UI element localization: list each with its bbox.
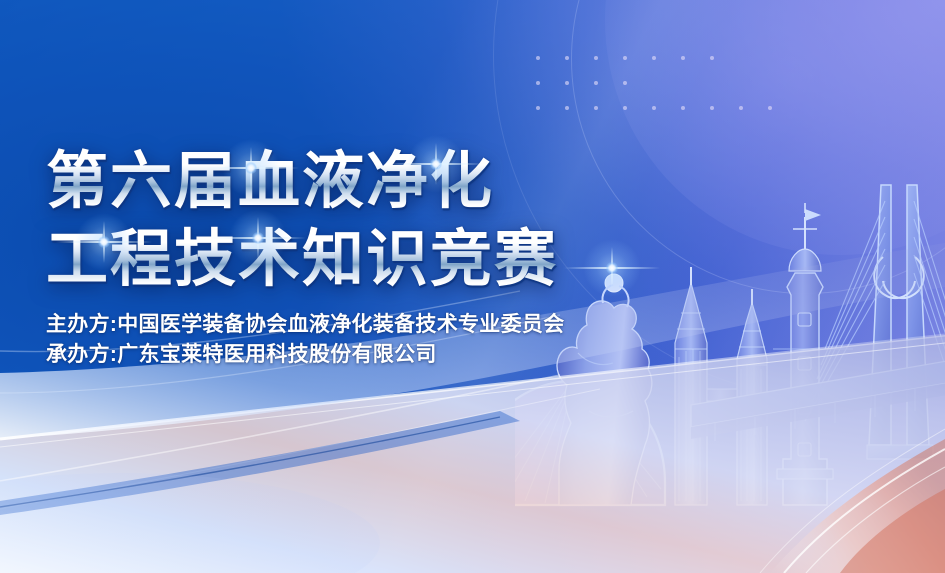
grid-dot [681, 106, 685, 110]
grid-dot [681, 56, 685, 60]
grid-dot [536, 56, 540, 60]
grid-dot [565, 56, 569, 60]
grid-dot [623, 81, 627, 85]
grid-dot [710, 56, 714, 60]
grid-dot [565, 106, 569, 110]
grid-dot [536, 81, 540, 85]
grid-dot [623, 56, 627, 60]
grid-dot [594, 81, 598, 85]
organizer-line: 承办方:广东宝莱特医用科技股份有限公司 [46, 340, 686, 370]
grid-dot [652, 56, 656, 60]
banner-poster: 第六届血液净化 工程技术知识竞赛 主办方:中国医学装备协会血液净化装备技术专业委… [0, 0, 945, 573]
dot-grid-pattern [536, 56, 784, 124]
organizer-block: 主办方:中国医学装备协会血液净化装备技术专业委员会 承办方:广东宝莱特医用科技股… [46, 310, 686, 370]
title-line-2: 工程技术知识竞赛 [46, 224, 686, 296]
grid-dot [768, 106, 772, 110]
grid-dot [565, 81, 569, 85]
grid-dot [710, 106, 714, 110]
grid-dot [739, 106, 743, 110]
grid-dot [594, 106, 598, 110]
host-line: 主办方:中国医学装备协会血液净化装备技术专业委员会 [46, 310, 686, 340]
grid-dot [594, 56, 598, 60]
grid-dot [623, 106, 627, 110]
grid-dot [652, 106, 656, 110]
banner-copy: 第六届血液净化 工程技术知识竞赛 主办方:中国医学装备协会血液净化装备技术专业委… [46, 146, 686, 370]
title-line-1: 第六届血液净化 [46, 146, 686, 218]
grid-dot [536, 106, 540, 110]
